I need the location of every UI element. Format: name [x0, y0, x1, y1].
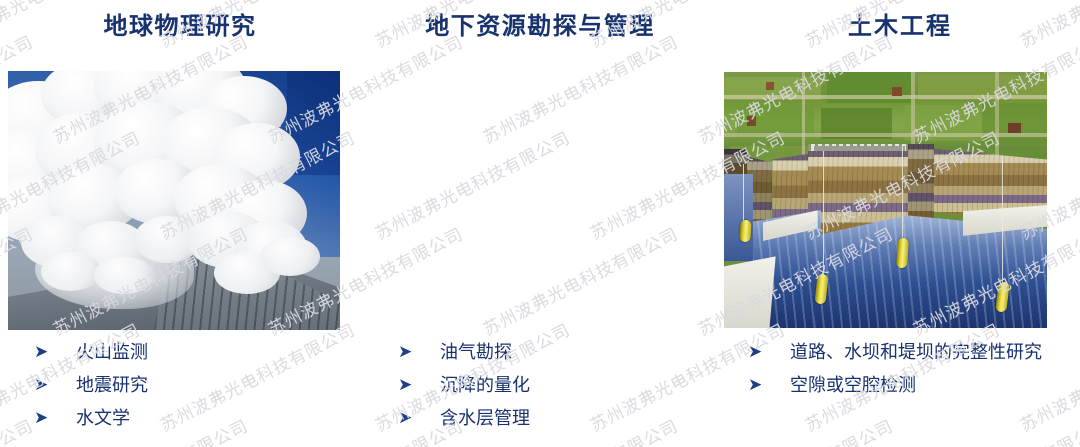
column-1-title: 地球物理研究	[0, 12, 360, 42]
list-item[interactable]: ➤ 地震研究	[34, 369, 360, 402]
slide-root: 地球物理研究	[0, 0, 1080, 447]
arrow-bullet-icon: ➤	[34, 336, 76, 369]
arrow-bullet-icon: ➤	[748, 369, 790, 402]
column-1-bullet-list: ➤ 火山监测 ➤ 地震研究 ➤ 水文学	[0, 336, 360, 435]
arrow-bullet-icon: ➤	[34, 402, 76, 435]
column-subsurface-exploration: 地下资源勘探与管理	[360, 0, 720, 447]
column-3-title: 土木工程	[720, 12, 1080, 42]
list-item[interactable]: ➤ 火山监测	[34, 336, 360, 369]
list-item[interactable]: ➤ 水文学	[34, 402, 360, 435]
list-item[interactable]: ➤ 道路、水坝和堤坝的完整性研究	[748, 336, 1080, 369]
column-geophysics-research: 地球物理研究	[0, 0, 360, 447]
list-item[interactable]: ➤ 空隙或空腔检测	[748, 369, 1080, 402]
arrow-bullet-icon: ➤	[398, 402, 440, 435]
arrow-bullet-icon: ➤	[398, 336, 440, 369]
column-3-bullet-list: ➤ 道路、水坝和堤坝的完整性研究 ➤ 空隙或空腔检测	[720, 336, 1080, 402]
arrow-bullet-icon: ➤	[398, 369, 440, 402]
list-item[interactable]: ➤ 油气勘探	[398, 336, 720, 369]
arrow-bullet-icon: ➤	[748, 336, 790, 369]
arrow-bullet-icon: ➤	[34, 369, 76, 402]
column-2-bullet-list: ➤ 油气勘探 ➤ 沉降的量化 ➤ 含水层管理	[360, 336, 720, 435]
volcano-eruption-photo	[8, 71, 340, 330]
column-civil-engineering: 土木工程	[720, 0, 1080, 447]
list-item[interactable]: ➤ 沉降的量化	[398, 369, 720, 402]
column-2-title: 地下资源勘探与管理	[360, 12, 720, 42]
list-item[interactable]: ➤ 含水层管理	[398, 402, 720, 435]
